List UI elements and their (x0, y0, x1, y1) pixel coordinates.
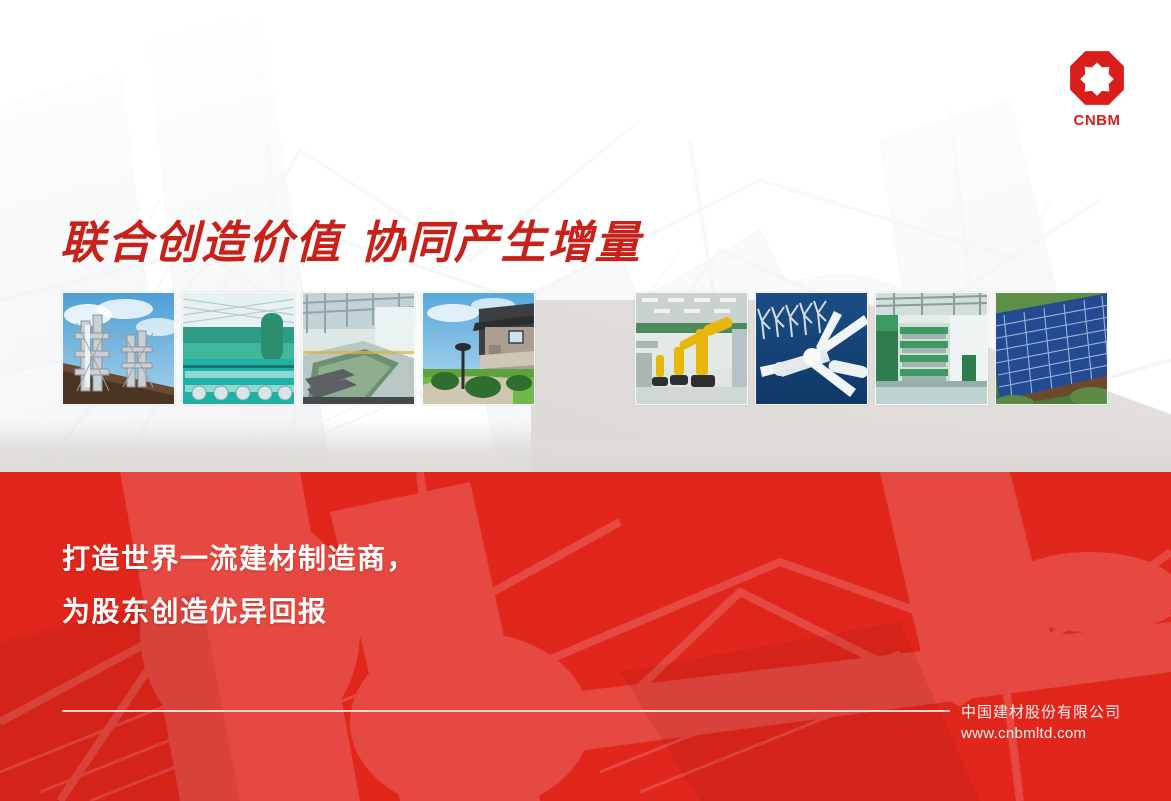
board-production-line-photo (302, 292, 415, 405)
photo-strip-left (62, 292, 535, 405)
cement-plant-photo (62, 292, 175, 405)
solar-panels-photo (995, 292, 1108, 405)
mission-statement: 打造世界一流建材制造商， 为股东创造优异回报 (62, 532, 416, 638)
page-title: 联合创造价值 协同产生增量 (60, 206, 642, 271)
mission-statement-line-1: 打造世界一流建材制造商， (62, 532, 416, 585)
cnbm-logo: CNBM (1064, 50, 1130, 136)
cnbm-octagon-star-logo-icon (1069, 50, 1125, 106)
footer-company-name: 中国建材股份有限公司 (961, 701, 1121, 723)
cnbm-logo-text: CNBM (1064, 112, 1130, 129)
cnbm-cover-slide: CNBM 联合创造价值 协同产生增量 (0, 0, 1171, 801)
residential-house-photo (422, 292, 535, 405)
fiberglass-production-photo (875, 292, 988, 405)
mission-statement-line-2: 为股东创造优异回报 (62, 585, 416, 638)
robotic-assembly-photo (635, 292, 748, 405)
footer-divider-line (62, 710, 950, 712)
footer-website-url[interactable]: www.cnbmltd.com (961, 723, 1121, 745)
glass-production-line-photo (182, 292, 295, 405)
footer-info: 中国建材股份有限公司 www.cnbmltd.com (961, 701, 1121, 745)
red-banner-section: 打造世界一流建材制造商， 为股东创造优异回报 中国建材股份有限公司 www.cn… (0, 472, 1171, 801)
photo-strip-right (635, 292, 1108, 405)
offshore-wind-turbines-photo (755, 292, 868, 405)
